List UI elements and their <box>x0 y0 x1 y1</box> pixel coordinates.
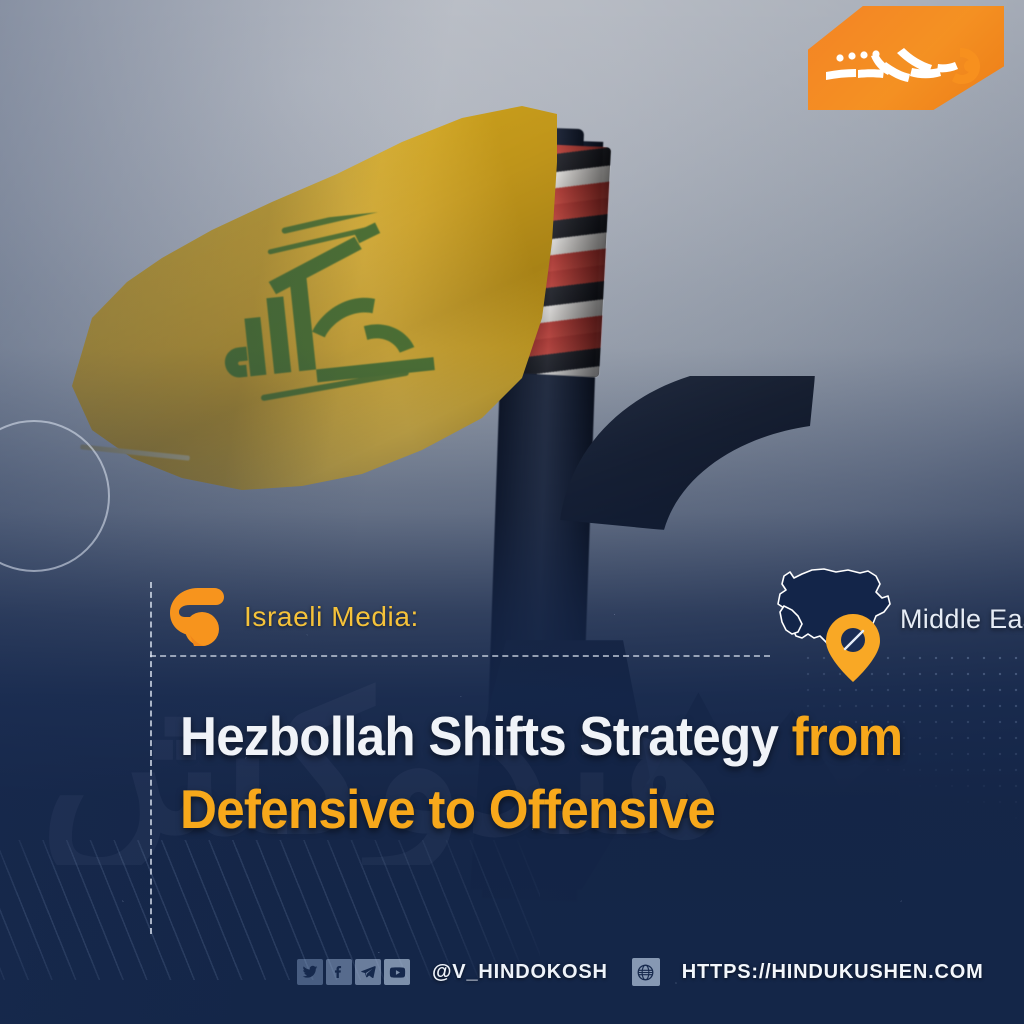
website-url[interactable]: HTTPS://HINDUKUSHEN.COM <box>682 961 984 984</box>
logo-wordmark-icon <box>818 32 994 92</box>
globe-icon <box>632 958 660 986</box>
news-graphic-poster: هندوکش <box>0 0 1024 1024</box>
footer-bar: @V_HINDOKOSH HTTPS://HINDUKUSHEN.COM <box>297 958 984 986</box>
social-handle[interactable]: @V_HINDOKOSH <box>432 961 608 984</box>
headline-line-1-orange: from <box>792 705 903 767</box>
region-badge: Middle East <box>772 560 1017 675</box>
headline: Hezbollah Shifts Strategy from Defensive… <box>180 700 794 846</box>
hindukosh-comma-mark-icon <box>168 586 226 648</box>
region-label: Middle East <box>900 604 1024 635</box>
facebook-icon[interactable] <box>326 959 352 985</box>
telegram-icon[interactable] <box>355 959 381 985</box>
kicker-label: Israeli Media: <box>244 601 419 633</box>
headline-line-2-orange: Defensive to Offensive <box>180 778 715 840</box>
headline-line-1-white: Hezbollah Shifts Strategy <box>180 705 792 767</box>
location-pin-icon <box>824 612 882 684</box>
speckle-texture <box>0 0 1024 1024</box>
headline-line-2: Defensive to Offensive <box>180 773 794 846</box>
hindukosh-logo[interactable] <box>808 6 1004 110</box>
youtube-icon[interactable] <box>384 959 410 985</box>
kicker-row: Israeli Media: <box>168 586 419 648</box>
social-links <box>297 959 410 985</box>
vertical-dashed-rule <box>150 582 152 934</box>
horizontal-dashed-rule <box>150 655 770 657</box>
headline-line-1: Hezbollah Shifts Strategy from <box>180 700 794 773</box>
twitter-icon[interactable] <box>297 959 323 985</box>
